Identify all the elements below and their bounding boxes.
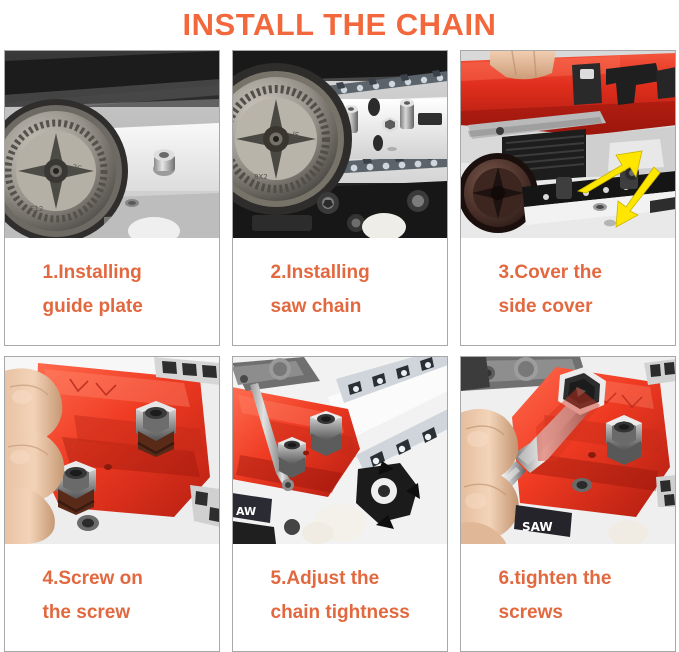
step-caption-3: 3.Cover the side cover (461, 238, 675, 345)
guide-plate-photo: 7C E12 (5, 51, 219, 238)
step-caption-4: 4.Screw on the screw (5, 544, 219, 651)
step-caption-5-line1: 5.Adjust the (271, 562, 447, 596)
step-card-4: 4.Screw on the screw (4, 356, 220, 652)
step-caption-6: 6.tighten the screws (461, 544, 675, 651)
step-caption-2: 2.Installing saw chain (233, 238, 447, 345)
step-caption-2-line1: 2.Installing (271, 256, 447, 290)
tighten-screws-photo: SAW (461, 357, 675, 544)
screw-on-photo (5, 357, 219, 544)
step-card-2: JS 8X2 2.Installing saw chain (232, 50, 448, 346)
svg-text:SAW: SAW (522, 520, 553, 534)
steps-grid: 7C E12 1.Installing guide plate (4, 50, 676, 652)
svg-text:AW: AW (236, 505, 256, 518)
step-card-6: SAW 6.tighten the screws (460, 356, 676, 652)
step-caption-5-line2: chain tightness (271, 596, 447, 630)
step-card-1: 7C E12 1.Installing guide plate (4, 50, 220, 346)
step-caption-2-line2: saw chain (271, 290, 447, 324)
step-caption-1-line2: guide plate (43, 290, 219, 324)
side-cover-photo (461, 51, 675, 238)
step-caption-1: 1.Installing guide plate (5, 238, 219, 345)
step-caption-5: 5.Adjust the chain tightness (233, 544, 447, 651)
step-caption-3-line2: side cover (499, 290, 675, 324)
step-caption-6-line1: 6.tighten the (499, 562, 675, 596)
saw-chain-photo: JS 8X2 (233, 51, 447, 238)
step-caption-3-line1: 3.Cover the (499, 256, 675, 290)
step-card-3: 3.Cover the side cover (460, 50, 676, 346)
instruction-poster: INSTALL THE CHAIN (0, 0, 679, 651)
svg-text:8X2: 8X2 (254, 173, 268, 181)
step-caption-6-line2: screws (499, 596, 675, 630)
step-caption-4-line1: 4.Screw on (43, 562, 219, 596)
step-caption-4-line2: the screw (43, 596, 219, 630)
chain-tightness-photo: AW (233, 357, 447, 544)
svg-text:E12: E12 (30, 205, 43, 213)
page-title: INSTALL THE CHAIN (0, 0, 679, 50)
step-caption-1-line1: 1.Installing (43, 256, 219, 290)
step-card-5: AW 5.Adjust the chain tightness (232, 356, 448, 652)
